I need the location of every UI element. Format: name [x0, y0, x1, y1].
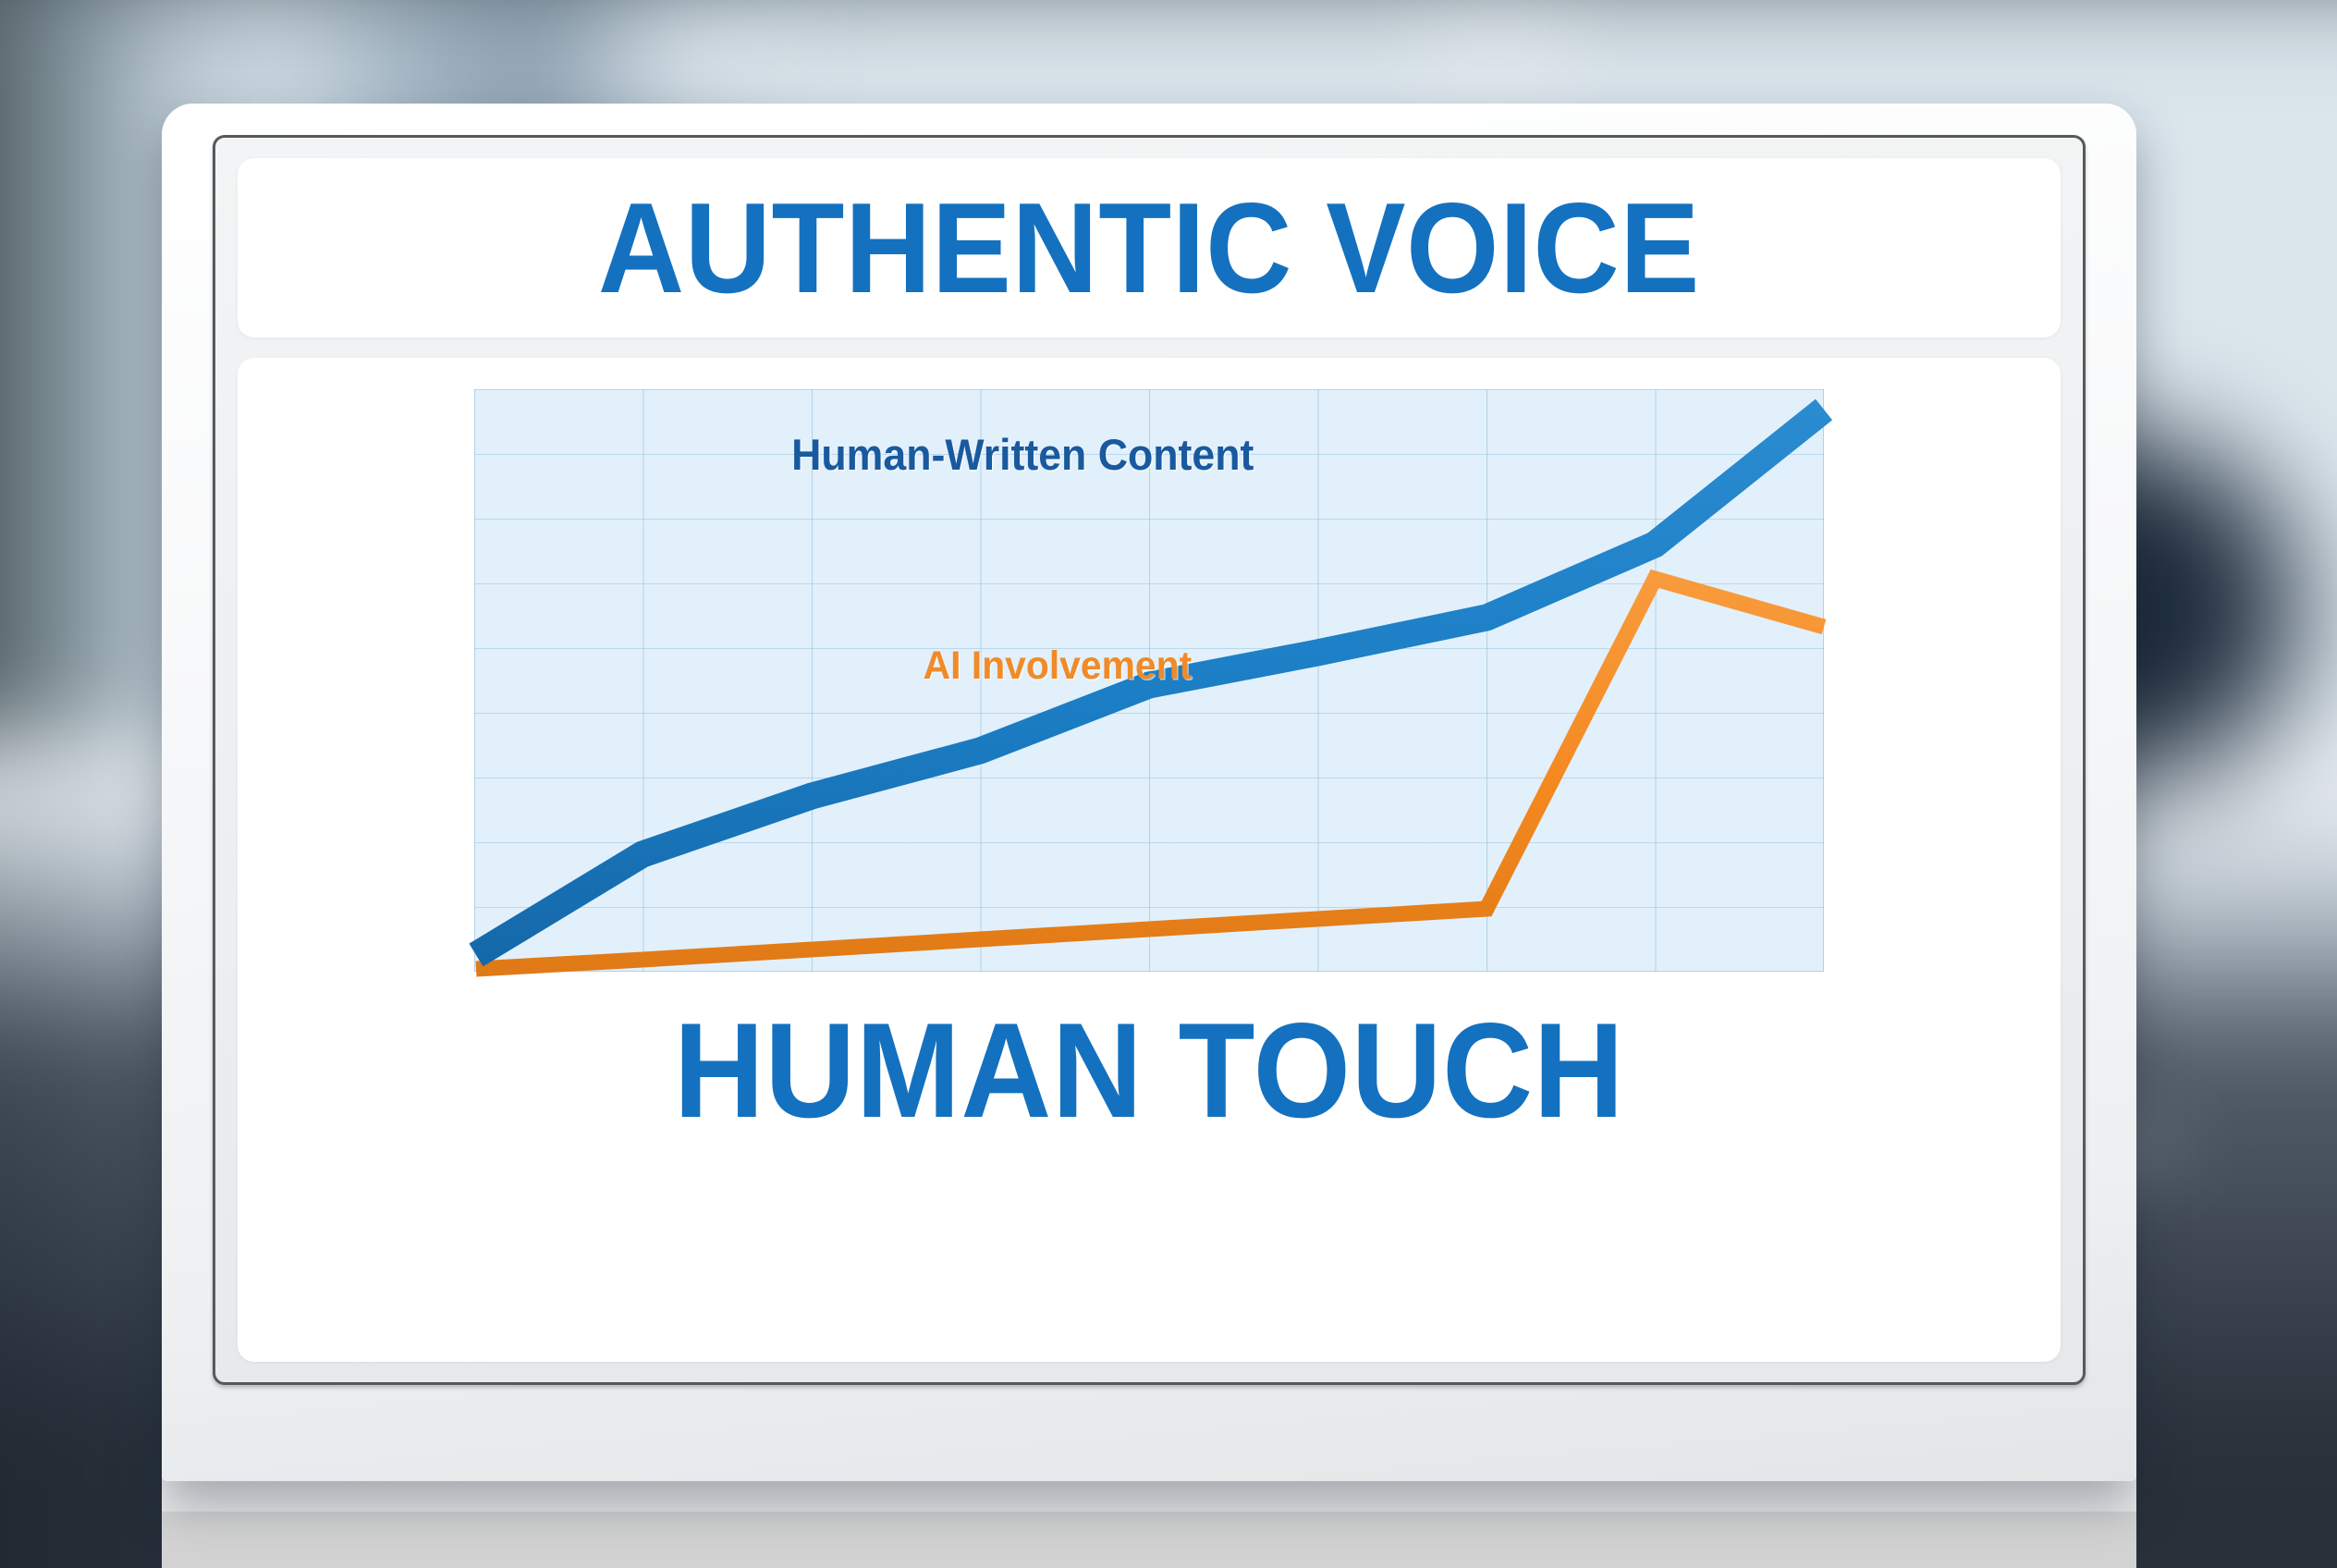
- page-title-authentic-voice: AUTHENTIC VOICE: [598, 184, 1700, 312]
- scene: AUTHENTIC VOICE: [0, 0, 2337, 1568]
- chart-and-headline-card: Human-Written Content AI Involvement HUM…: [238, 358, 2061, 1362]
- monitor-frame: AUTHENTIC VOICE: [162, 104, 2136, 1481]
- series-label-human-written-content: Human-Written Content: [791, 429, 1254, 480]
- headline-top-card: AUTHENTIC VOICE: [238, 158, 2061, 337]
- line-chart: Human-Written Content AI Involvement: [474, 389, 1824, 972]
- series-label-ai-involvement: AI Involvement: [924, 643, 1193, 689]
- monitor-stand-base: [162, 1476, 2136, 1568]
- monitor-screen-bezel: AUTHENTIC VOICE: [213, 135, 2086, 1385]
- page-title-human-touch: HUMAN TOUCH: [674, 1003, 1624, 1138]
- series-line-ai-involvement: [476, 579, 1824, 969]
